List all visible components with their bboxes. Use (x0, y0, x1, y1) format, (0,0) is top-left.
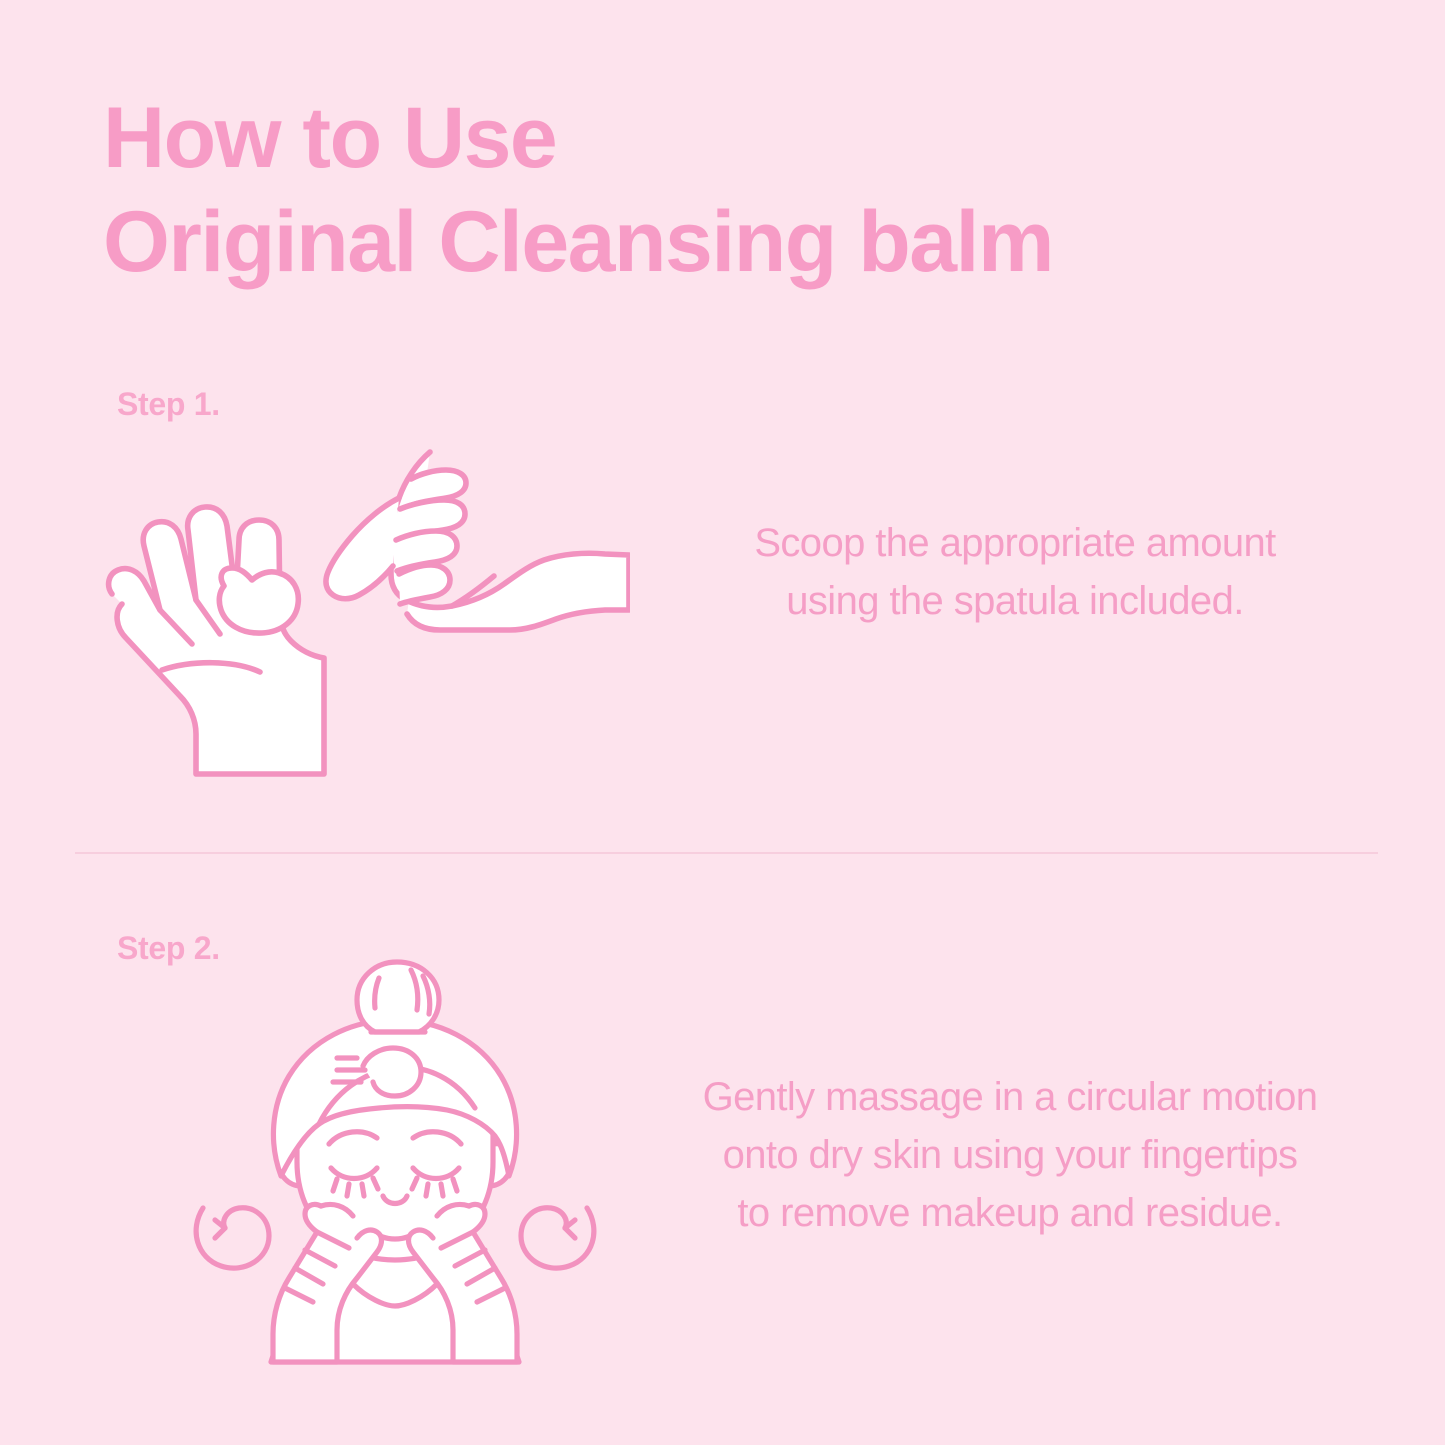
hands-scooping-balm-icon (100, 434, 630, 784)
section-divider (75, 852, 1378, 854)
woman-massaging-face-icon (185, 948, 605, 1368)
circular-motion-swirl-left (196, 1208, 269, 1268)
page-title-line-1: How to Use (103, 95, 1253, 181)
step-2-text-line-2: onto dry skin using your fingertips (650, 1126, 1370, 1184)
step-2-text-line-1: Gently massage in a circular motion (650, 1068, 1370, 1126)
step-1-text-line-2: using the spatula included. (665, 572, 1365, 630)
circular-motion-swirl-right (521, 1208, 594, 1268)
step-1-block: Step 1. (0, 386, 1445, 816)
step-2-block: Step 2. (0, 930, 1445, 1390)
page-title: How to Use Original Cleansing balm (103, 95, 1253, 285)
step-1-description: Scoop the appropriate amount using the s… (665, 514, 1365, 630)
step-2-description: Gently massage in a circular motion onto… (650, 1068, 1370, 1242)
page-title-line-2: Original Cleansing balm (103, 199, 1253, 285)
how-to-use-infographic: How to Use Original Cleansing balm Step … (0, 0, 1445, 1445)
step-2-text-line-3: to remove makeup and residue. (650, 1184, 1370, 1242)
hands-scooping-balm-illustration (100, 434, 630, 784)
step-1-text-line-1: Scoop the appropriate amount (665, 514, 1365, 572)
woman-massaging-face-illustration (185, 948, 605, 1368)
step-1-label: Step 1. (117, 386, 220, 423)
